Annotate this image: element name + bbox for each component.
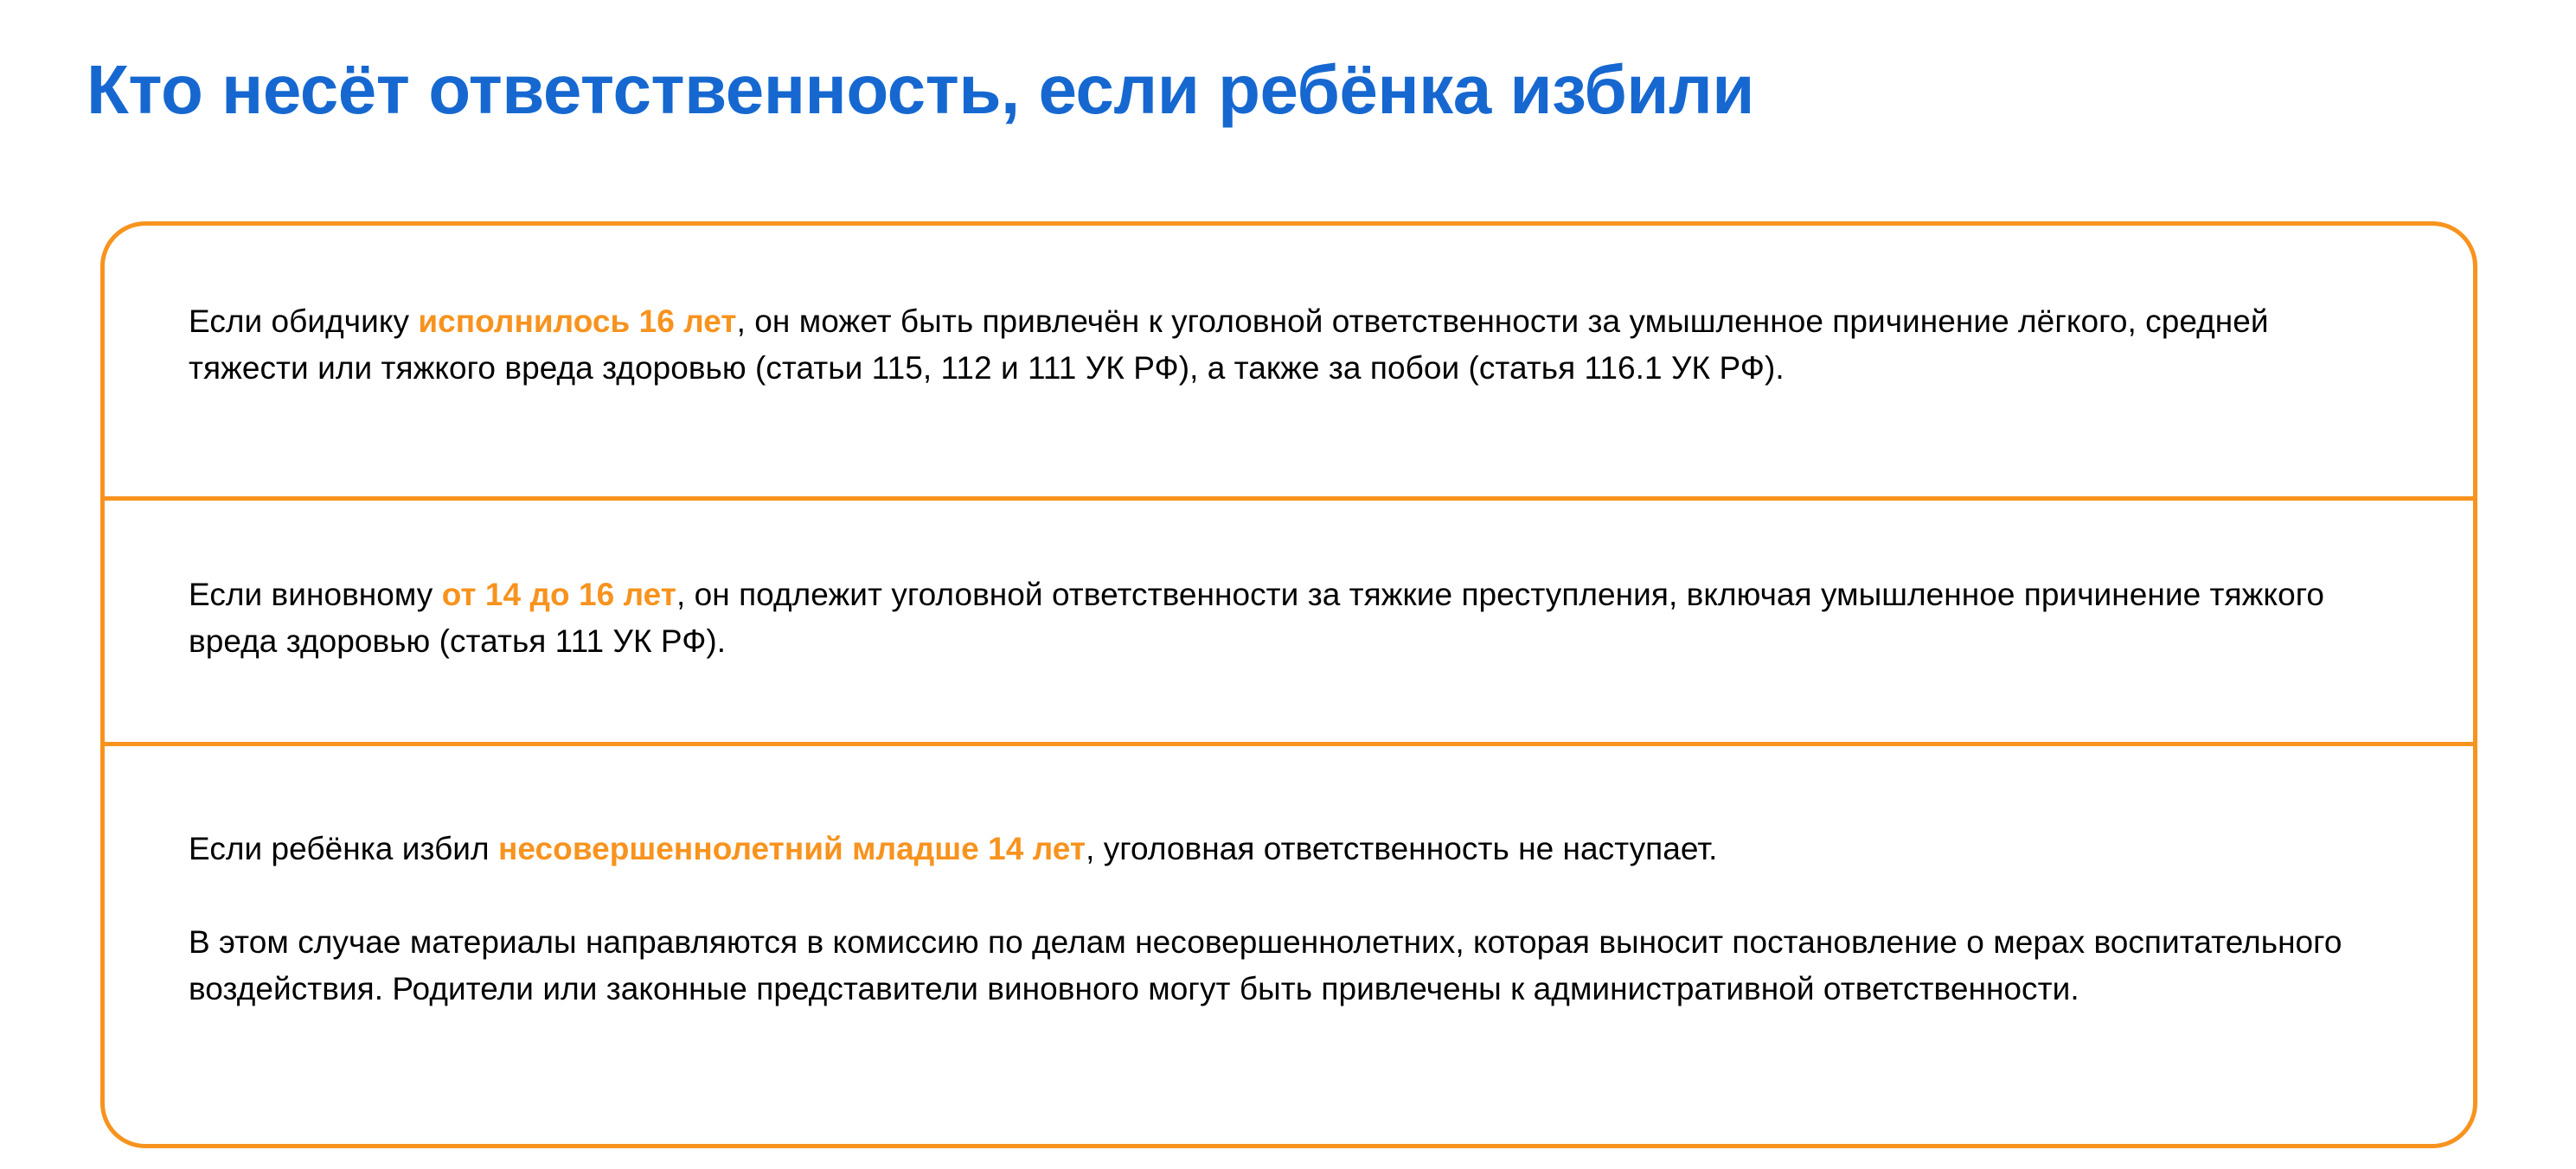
paragraph: Если виновному от 14 до 16 лет, он подле… <box>189 572 2386 665</box>
text-run: Если виновному <box>189 577 442 612</box>
paragraph: В этом случае материалы направляются в к… <box>189 919 2386 1012</box>
text-run: Если обидчику <box>189 303 418 339</box>
card-section-age-14-to-16: Если виновному от 14 до 16 лет, он подле… <box>105 496 2473 742</box>
card-section-under-14: Если ребёнка избил несовершеннолетний мл… <box>105 742 2473 1144</box>
text-run: В этом случае материалы направляются в к… <box>189 924 2342 1006</box>
page-root: Кто несёт ответственность, если ребёнка … <box>0 0 2576 1169</box>
page-title: Кто несёт ответственность, если ребёнка … <box>87 48 2422 131</box>
text-run: , уголовная ответственность не наступает… <box>1086 831 1717 866</box>
responsibility-card: Если обидчику исполнилось 16 лет, он мож… <box>100 221 2477 1148</box>
highlighted-text: несовершеннолетний младше 14 лет <box>498 831 1086 866</box>
text-run: Если ребёнка избил <box>189 831 498 866</box>
highlighted-text: исполнилось 16 лет <box>418 303 736 339</box>
paragraph: Если ребёнка избил несовершеннолетний мл… <box>189 826 2386 872</box>
highlighted-text: от 14 до 16 лет <box>442 577 676 612</box>
paragraph: Если обидчику исполнилось 16 лет, он мож… <box>189 298 2386 392</box>
card-section-age-16-and-older: Если обидчику исполнилось 16 лет, он мож… <box>105 226 2473 496</box>
